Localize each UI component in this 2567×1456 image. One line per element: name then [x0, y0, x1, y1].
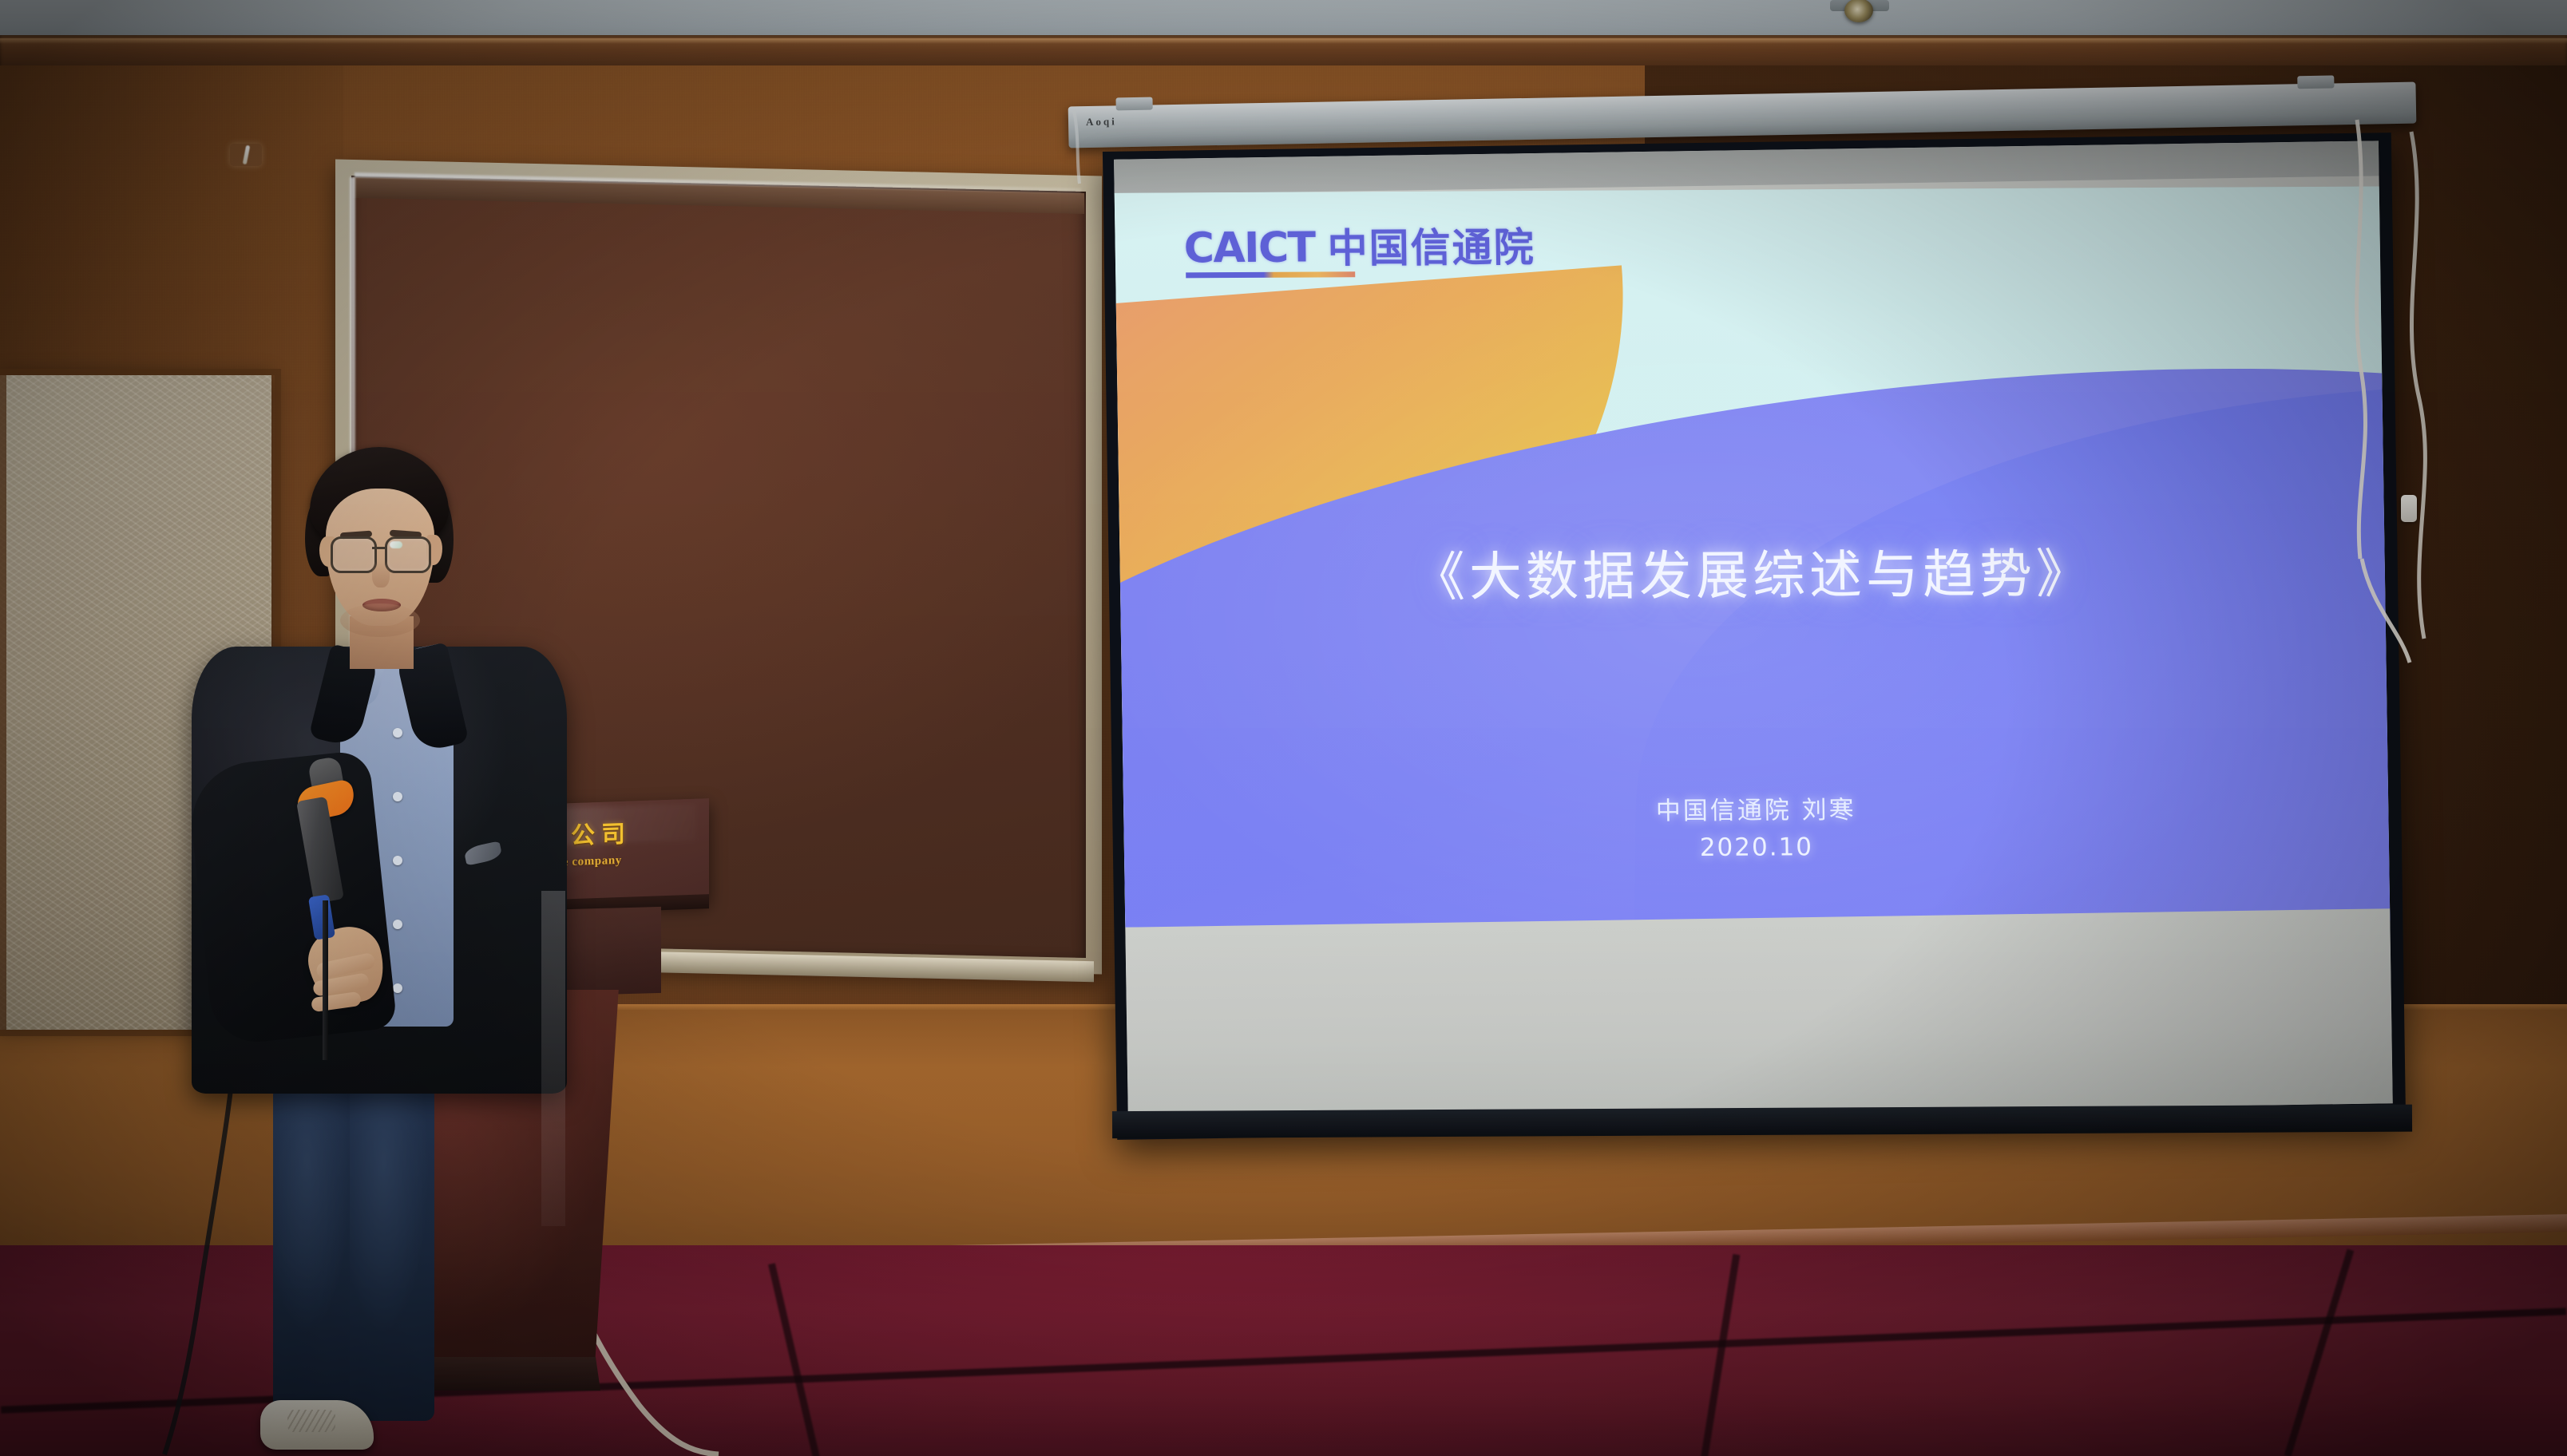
shirt-button — [393, 856, 402, 865]
crown-molding-highlight — [0, 38, 2567, 44]
glasses-lens-left — [331, 536, 377, 573]
speaker-leg-right — [350, 1078, 434, 1421]
presentation-room-photo: Aoqi CAICT 中国信通院 《大数据发展综述与趋势》 中国 — [0, 0, 2567, 1456]
caict-accent-bar — [1186, 271, 1355, 278]
unlit-margin-top — [1114, 140, 2379, 194]
speaker-nose — [372, 560, 390, 588]
speaker — [184, 447, 599, 1456]
projection-surface: CAICT 中国信通院 《大数据发展综述与趋势》 中国信通院 刘寒 2020.1… — [1114, 140, 2393, 1122]
speaker-chin — [340, 603, 420, 637]
shirt-button — [393, 792, 402, 801]
slide-byline: 中国信通院 刘寒 — [1123, 786, 2389, 829]
speaker-legs — [273, 1078, 465, 1453]
presentation-slide: CAICT 中国信通院 《大数据发展综述与趋势》 中国信通院 刘寒 2020.1… — [1115, 187, 2391, 928]
projection-screen[interactable]: CAICT 中国信通院 《大数据发展综述与趋势》 中国信通院 刘寒 2020.1… — [1103, 133, 2406, 1140]
shirt-placket — [541, 891, 565, 1226]
microphone-stand-pole — [323, 900, 328, 1060]
speaker-leg-left — [273, 1078, 358, 1421]
shirt-button — [393, 983, 402, 993]
caict-wordmark: CAICT — [1183, 227, 1315, 270]
glasses-bridge — [372, 547, 386, 549]
glasses-reflection — [390, 541, 402, 548]
shirt-button — [393, 920, 402, 929]
cable-inline-switch[interactable] — [2401, 495, 2417, 522]
screen-bracket-right — [2297, 75, 2334, 89]
wall-sensor-icon — [230, 144, 262, 166]
shirt-button — [393, 728, 402, 738]
speaker-arm-left — [185, 750, 397, 1046]
screen-bracket-left — [1115, 97, 1152, 111]
shoe-laces — [287, 1410, 335, 1432]
unlit-margin-bottom — [1125, 908, 2392, 1122]
caict-logo: CAICT 中国信通院 — [1183, 226, 1535, 269]
slide-title: 《大数据发展综述与趋势》 — [1119, 529, 2385, 612]
screen-brand-label: Aoqi — [1086, 115, 1117, 129]
speaker-shoe-left — [260, 1400, 374, 1450]
caict-chinese-name: 中国信通院 — [1327, 227, 1535, 268]
